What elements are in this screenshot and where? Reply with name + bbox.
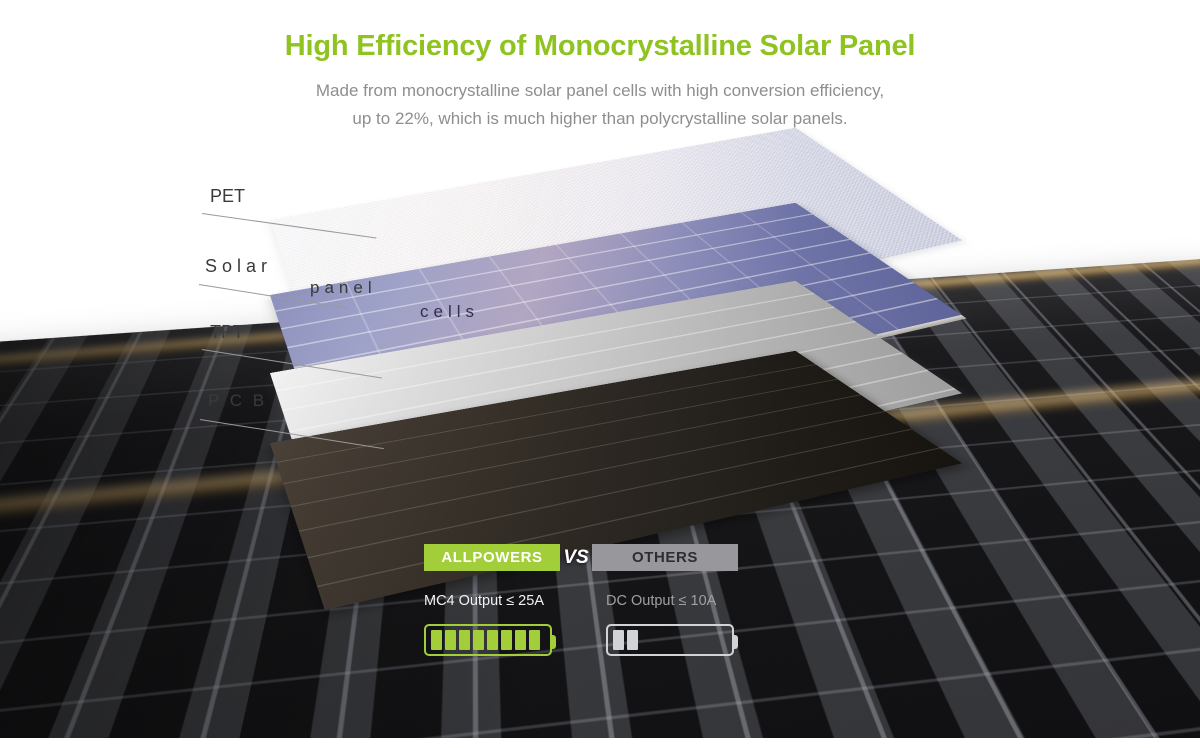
leader-line-pcb <box>200 419 384 449</box>
battery-allpowers-segment-1 <box>431 630 442 650</box>
battery-others-segment-8 <box>711 630 722 650</box>
page-subtitle: Made from monocrystalline solar panel ce… <box>0 77 1200 133</box>
caption-dc-output: DC Output ≤ 10A <box>606 593 716 613</box>
comparison-battery-row <box>424 624 764 656</box>
product-feature-banner: High Efficiency of Monocrystalline Solar… <box>0 0 1200 748</box>
subtitle-line-1: Made from monocrystalline solar panel ce… <box>0 77 1200 105</box>
battery-allpowers-segment-8 <box>529 630 540 650</box>
callout-label-tpt: TPT <box>210 322 244 343</box>
comparison-block: ALLPOWERS VS OTHERS MC4 Output ≤ 25A DC … <box>424 544 764 656</box>
callout-label-panel: panel <box>310 278 377 298</box>
comparison-badge-row: ALLPOWERS VS OTHERS <box>424 544 764 571</box>
bottom-white-margin <box>0 738 1200 748</box>
vs-label: VS <box>560 547 592 569</box>
callout-label-pet: PET <box>210 186 245 207</box>
battery-others-segment-4 <box>655 630 666 650</box>
battery-others-segment-1 <box>613 630 624 650</box>
battery-others-segment-2 <box>627 630 638 650</box>
battery-allpowers-segment-3 <box>459 630 470 650</box>
subtitle-line-2: up to 22%, which is much higher than pol… <box>0 105 1200 133</box>
leader-line-pet <box>202 213 376 238</box>
battery-others-segment-7 <box>697 630 708 650</box>
leader-line-tpt <box>202 349 382 378</box>
battery-others-segment-5 <box>669 630 680 650</box>
battery-allpowers-segment-5 <box>487 630 498 650</box>
header: High Efficiency of Monocrystalline Solar… <box>0 0 1200 133</box>
battery-allpowers-segment-2 <box>445 630 456 650</box>
battery-allpowers-segment-6 <box>501 630 512 650</box>
page-title: High Efficiency of Monocrystalline Solar… <box>0 30 1200 63</box>
callout-label-pcb: P C B <box>208 391 267 411</box>
battery-others-segment-6 <box>683 630 694 650</box>
battery-others-segment-3 <box>641 630 652 650</box>
callout-label-cells: cells <box>420 302 479 322</box>
brand-badge-others: OTHERS <box>592 544 738 571</box>
brand-badge-allpowers: ALLPOWERS <box>424 544 560 571</box>
callout-label-solar: Solar <box>205 256 272 277</box>
battery-allpowers-segment-7 <box>515 630 526 650</box>
comparison-caption-row: MC4 Output ≤ 25A DC Output ≤ 10A <box>424 593 764 613</box>
battery-allpowers-segment-4 <box>473 630 484 650</box>
caption-mc4-output: MC4 Output ≤ 25A <box>424 593 606 613</box>
battery-icon-allpowers <box>424 624 552 656</box>
battery-icon-others <box>606 624 734 656</box>
